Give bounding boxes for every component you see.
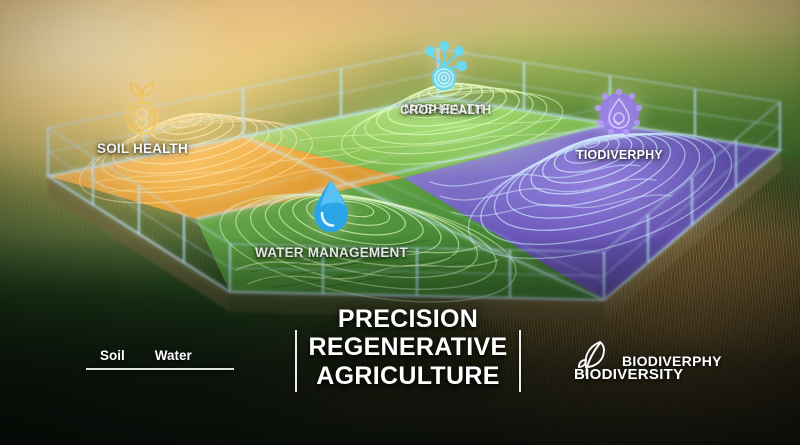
legend-item-water[interactable]: Water (155, 348, 192, 363)
title-divider-right (519, 330, 521, 392)
scene-canvas: SOIL HEALTH (0, 0, 800, 445)
page-title: PRECISION REGENERATIVE AGRICULTURE (302, 305, 514, 390)
biodiversity-secondary-label: BIODIVERSITY (574, 366, 683, 383)
biodiversity-caption: BIODIVERPHY BIODIVERSITY (578, 338, 722, 383)
title-line-3: AGRICULTURE (302, 362, 514, 390)
title-line-1: PRECISION (302, 305, 514, 333)
legend-item-soil[interactable]: Soil (100, 348, 125, 363)
title-divider-left (295, 330, 297, 392)
legend-items: Soil Water (86, 348, 234, 368)
legend-underline (86, 368, 234, 370)
title-line-2: REGENERATIVE (302, 333, 514, 361)
legend: Soil Water (86, 348, 234, 370)
